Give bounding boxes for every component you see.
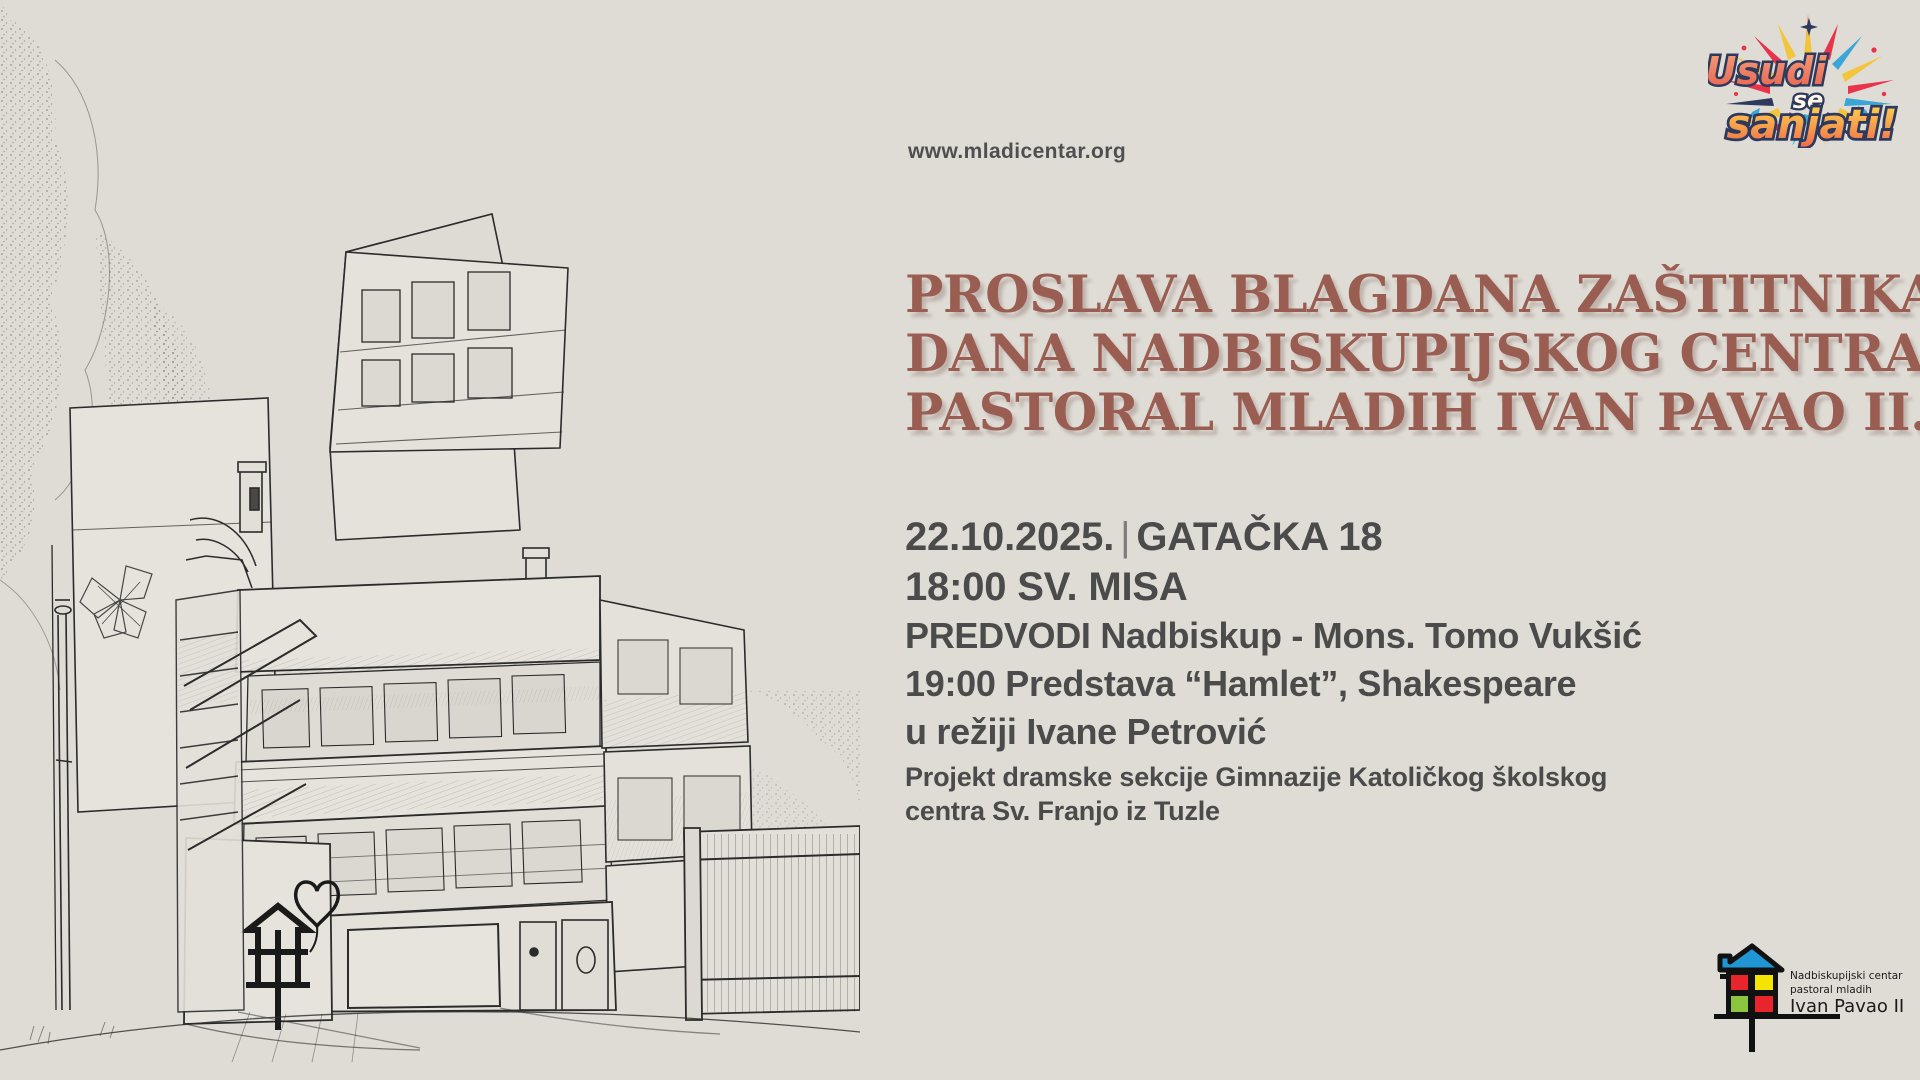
center-logo-line-2: pastoral mladih [1790, 984, 1872, 996]
event-details: 22.10.2025.|GATAČKA 18 18:00 SV. MISA PR… [905, 512, 1915, 828]
detail-director: u režiji Ivane Petrović [905, 708, 1915, 756]
center-logo-line-1: Nadbiskupijski centar za [1790, 970, 1905, 982]
center-logo: Nadbiskupijski centar za pastoral mladih… [1700, 936, 1905, 1056]
building-illustration [0, 0, 860, 1080]
detail-mass: 18:00 SV. MISA [905, 562, 1915, 612]
detail-play: 19:00 Predstava “Hamlet”, Shakespeare [905, 660, 1915, 708]
svg-text:sanjati!: sanjati! [1726, 102, 1897, 148]
detail-note-line-2: centra Sv. Franjo iz Tuzle [905, 794, 1915, 828]
title-line-1: PROSLAVA BLAGDANA ZAŠTITNIKA I [905, 266, 1915, 325]
website-url[interactable]: www.mladicentar.org [908, 140, 1126, 164]
event-date: 22.10.2025. [905, 515, 1114, 559]
page-title: PROSLAVA BLAGDANA ZAŠTITNIKA I DANA NADB… [905, 266, 1915, 443]
title-line-2: DANA NADBISKUPIJSKOG CENTRA ZA [905, 325, 1915, 384]
usudi-se-sanjati-logo: Usudi se sanjati! [1708, 8, 1908, 148]
event-address: GATAČKA 18 [1136, 515, 1382, 559]
detail-separator: | [1114, 515, 1136, 559]
detail-date-address: 22.10.2025.|GATAČKA 18 [905, 512, 1915, 562]
center-logo-line-3: Ivan Pavao II. [1790, 996, 1905, 1017]
title-line-3: PASTORAL MLADIH IVAN PAVAO II. [905, 384, 1915, 443]
detail-celebrant: PREDVODI Nadbiskup - Mons. Tomo Vukšić [905, 612, 1915, 660]
detail-note-line-1: Projekt dramske sekcije Gimnazije Katoli… [905, 760, 1915, 794]
poster-canvas: www.mladicentar.org PROSLAVA BLAGDANA ZA… [0, 0, 1920, 1080]
